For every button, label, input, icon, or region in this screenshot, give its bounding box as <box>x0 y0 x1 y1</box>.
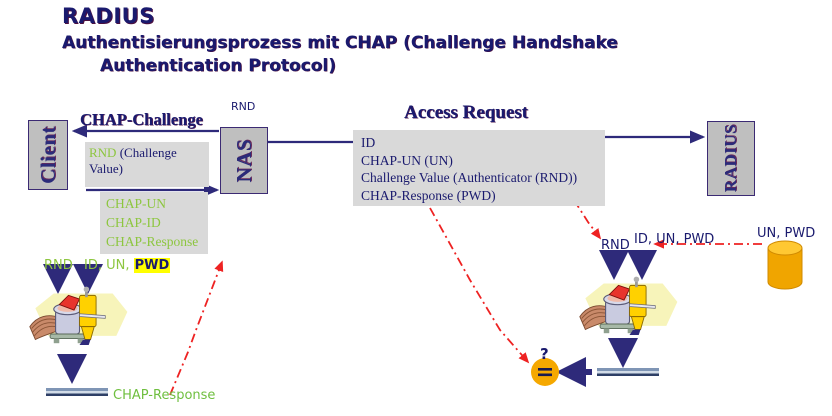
dashdot-access-to-compare <box>430 208 528 362</box>
panel-chap-fields: CHAP-UN CHAP-ID CHAP-Response <box>100 192 208 254</box>
client-hash-result-bar <box>46 388 108 396</box>
arrows-client-hash-inputs <box>58 272 88 288</box>
label-server-hash-idunpwd: ID, UN, PWD <box>634 232 714 247</box>
heading-chap-challenge: CHAP-Challenge <box>80 110 203 130</box>
access-request-field: Challenge Value (Authenticator (RND)) <box>361 169 605 187</box>
label-client-hash-rnd: RND <box>44 258 73 273</box>
node-client-label: Client <box>36 126 61 184</box>
node-radius-label: RADIUS <box>721 124 741 192</box>
server-hash-result-bar <box>597 368 659 376</box>
label-chap-response-output: CHAP-Response <box>113 388 215 403</box>
node-nas-label: NAS <box>232 139 257 183</box>
dashdot-chapresponse-to-client-pwd <box>170 262 222 395</box>
heading-access-request: Access Request <box>404 102 528 124</box>
panel-challenge-rnd: RND <box>89 145 116 160</box>
label-database-unpwd: UN, PWD <box>757 226 815 241</box>
node-nas[interactable]: NAS <box>220 127 268 194</box>
label-client-hash-idun: ID, UN, <box>84 258 134 273</box>
access-request-field: CHAP-UN (UN) <box>361 152 605 170</box>
node-client[interactable]: Client <box>28 120 68 190</box>
label-rnd-above-nas: RND <box>231 100 255 113</box>
access-request-field: ID <box>361 134 605 152</box>
label-server-hash-rnd: RND <box>601 238 630 253</box>
label-client-hash-pwd: PWD <box>134 258 171 273</box>
arrows-server-hash-inputs <box>614 254 642 274</box>
server-hash-machine-icon <box>580 277 678 335</box>
label-client-hash-inputs: ID, UN, PWD <box>84 258 170 273</box>
panel-chap-field: CHAP-Response <box>106 232 208 251</box>
panel-chap-field: CHAP-ID <box>106 213 208 232</box>
node-radius-server[interactable]: RADIUS <box>707 121 755 196</box>
access-request-field: CHAP-Response (PWD) <box>361 187 605 205</box>
label-compare-question: ? <box>540 345 549 363</box>
panel-access-request-fields: ID CHAP-UN (UN) Challenge Value (Authent… <box>353 130 605 206</box>
panel-chap-field: CHAP-UN <box>106 194 208 213</box>
panel-challenge-value: RND (Challenge Value) <box>85 142 209 187</box>
database-cylinder-icon <box>768 241 802 289</box>
client-hash-machine-icon <box>30 287 128 345</box>
